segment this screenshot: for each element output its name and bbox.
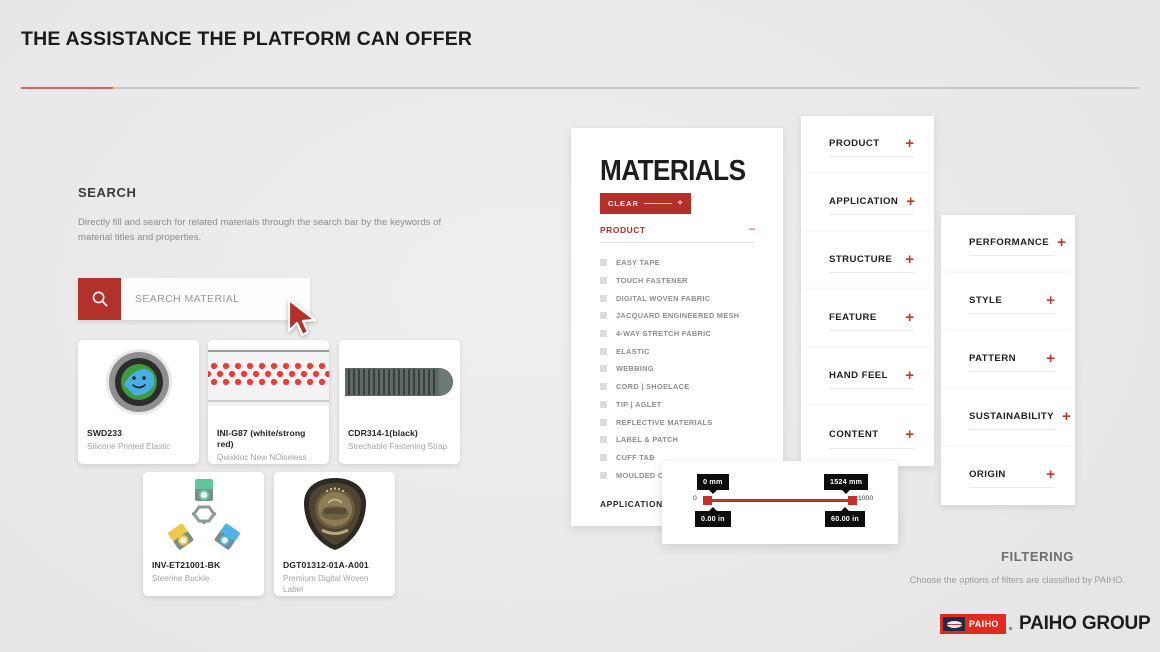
filter-card-label: PATTERN bbox=[969, 353, 1016, 364]
page-title: THE ASSISTANCE THE PLATFORM CAN OFFER bbox=[21, 28, 472, 51]
cursor-arrow-icon bbox=[286, 298, 320, 338]
checkbox-icon[interactable] bbox=[600, 472, 607, 479]
filter-card-origin[interactable]: ORIGIN+ bbox=[941, 447, 1075, 505]
paiho-logo-mark: PAIHO bbox=[940, 614, 1006, 634]
result-card[interactable]: DGT01312-01A-A001 Premium Digital Woven … bbox=[274, 472, 395, 596]
list-item[interactable]: DIGITAL WOVEN FABRIC bbox=[600, 289, 765, 307]
filter-card-label: HAND FEEL bbox=[829, 370, 888, 381]
list-item[interactable]: 4-WAY STRETCH FABRIC bbox=[600, 325, 765, 343]
filter-card-divider bbox=[829, 214, 914, 215]
minus-icon: – bbox=[749, 224, 755, 235]
filter-card-structure[interactable]: STRUCTURE+ bbox=[801, 232, 934, 290]
plus-icon: + bbox=[1046, 467, 1055, 482]
filter-card-product[interactable]: PRODUCT+ bbox=[801, 116, 934, 174]
search-input[interactable]: SEARCH MATERIAL bbox=[121, 278, 310, 320]
filter-card-label: PERFORMANCE bbox=[969, 237, 1049, 248]
list-item[interactable]: JACQUARD ENGINEERED MESH bbox=[600, 307, 765, 325]
filter-card-label: FEATURE bbox=[829, 312, 877, 323]
paiho-logo-wordmark: PAIHO GROUP bbox=[1019, 613, 1151, 635]
search-heading: SEARCH bbox=[78, 185, 137, 200]
list-item-label: REFLECTIVE MATERIALS bbox=[616, 418, 713, 427]
checkbox-icon[interactable] bbox=[600, 419, 607, 426]
filter-card-label: STYLE bbox=[969, 295, 1002, 306]
plus-icon: + bbox=[905, 252, 914, 267]
result-card-code: DGT01312-01A-A001 bbox=[283, 560, 386, 571]
checkbox-icon[interactable] bbox=[600, 436, 607, 443]
filter-card-divider bbox=[829, 156, 914, 157]
checkbox-icon[interactable] bbox=[600, 330, 607, 337]
plus-icon: + bbox=[905, 427, 914, 442]
section-header-application-label: APPLICATION bbox=[600, 499, 663, 509]
list-item-label: LABEL & PATCH bbox=[616, 435, 678, 444]
paiho-logo-mark-text: PAIHO bbox=[969, 619, 999, 629]
filter-card-label: ORIGIN bbox=[969, 469, 1006, 480]
list-item-label: TIP | AGLET bbox=[616, 400, 662, 409]
filter-card-divider bbox=[969, 429, 1055, 430]
slider-scale-min: 0 bbox=[693, 495, 697, 502]
plus-icon: + bbox=[1062, 409, 1071, 424]
filter-card-divider bbox=[829, 388, 914, 389]
range-slider-popup: 0 mm 1524 mm 0 1000 0.00 in 60.00 in bbox=[662, 461, 898, 544]
list-item-label: WEBBING bbox=[616, 364, 654, 373]
list-item-label: CUFF TAB bbox=[616, 453, 655, 462]
list-item[interactable]: WEBBING bbox=[600, 360, 765, 378]
list-item[interactable]: CORD | SHOELACE bbox=[600, 378, 765, 396]
search-input-placeholder: SEARCH MATERIAL bbox=[135, 293, 239, 305]
section-divider bbox=[600, 242, 755, 243]
list-item-label: ELASTIC bbox=[616, 347, 650, 356]
plus-icon: + bbox=[905, 368, 914, 383]
result-card-name: Steerine Buckle bbox=[152, 573, 255, 584]
result-card-code: SWD233 bbox=[87, 428, 190, 439]
range-slider-track[interactable] bbox=[707, 499, 853, 502]
buckle-thumb bbox=[143, 472, 264, 556]
clear-button-label: CLEAR bbox=[608, 199, 639, 208]
checkbox-icon[interactable] bbox=[600, 348, 607, 355]
title-divider bbox=[21, 87, 1139, 89]
hook-tape-thumb bbox=[208, 340, 329, 424]
plus-icon: + bbox=[905, 310, 914, 325]
filter-card-divider bbox=[969, 371, 1055, 372]
list-item-label: EASY TAPE bbox=[616, 258, 660, 267]
slide-canvas: THE ASSISTANCE THE PLATFORM CAN OFFER SE… bbox=[0, 0, 1160, 652]
filter-card-label: STRUCTURE bbox=[829, 254, 892, 265]
filtering-description: Choose the options of filters are classi… bbox=[910, 575, 1125, 585]
filter-card-divider bbox=[829, 272, 914, 273]
filter-card-divider bbox=[829, 330, 914, 331]
clear-button-divider bbox=[644, 203, 672, 204]
checkbox-icon[interactable] bbox=[600, 259, 607, 266]
result-card-name: Quixkloc New NOiseless Hook to Hook Tab bbox=[217, 452, 320, 464]
paiho-oval-icon bbox=[947, 621, 962, 628]
range-slider-handle-max[interactable] bbox=[848, 496, 857, 505]
result-card-code: INI-G87 (white/strong red) bbox=[217, 428, 320, 450]
plus-icon: + bbox=[905, 136, 914, 151]
filter-card-content[interactable]: CONTENT+ bbox=[801, 406, 934, 466]
result-card-name: Silicone Printed Elastic bbox=[87, 441, 190, 452]
result-card[interactable]: SWD233 Silicone Printed Elastic bbox=[78, 340, 199, 464]
list-item[interactable]: TIP | AGLET bbox=[600, 396, 765, 414]
list-item[interactable]: TOUCH FASTENER bbox=[600, 272, 765, 290]
plus-icon: + bbox=[677, 199, 683, 209]
filter-card-feature[interactable]: FEATURE+ bbox=[801, 290, 934, 348]
checkbox-icon[interactable] bbox=[600, 295, 607, 302]
checkbox-icon[interactable] bbox=[600, 365, 607, 372]
result-card-name: Premium Digital Woven Label bbox=[283, 573, 386, 595]
search-bar[interactable]: SEARCH MATERIAL bbox=[78, 278, 310, 320]
search-button[interactable] bbox=[78, 278, 121, 320]
list-item-label: 4-WAY STRETCH FABRIC bbox=[616, 329, 711, 338]
filter-card-divider bbox=[969, 313, 1055, 314]
list-item-label: JACQUARD ENGINEERED MESH bbox=[616, 311, 739, 320]
range-slider-handle-min[interactable] bbox=[703, 496, 712, 505]
checkbox-icon[interactable] bbox=[600, 401, 607, 408]
filter-card-label: CONTENT bbox=[829, 429, 879, 440]
search-icon bbox=[91, 290, 109, 308]
title-divider-accent bbox=[21, 87, 113, 89]
list-item-label: CORD | SHOELACE bbox=[616, 382, 690, 391]
filter-card-divider bbox=[829, 448, 914, 449]
result-card[interactable]: CDR314-1(black) Strechable Fastening Str… bbox=[339, 340, 460, 464]
logo-dot-icon bbox=[1009, 627, 1012, 630]
result-card[interactable]: INI-G87 (white/strong red) Quixkloc New … bbox=[208, 340, 329, 464]
plus-icon: + bbox=[1046, 293, 1055, 308]
result-card-code: INV-ET21001-BK bbox=[152, 560, 255, 571]
slider-min-in-label: 0.00 in bbox=[695, 511, 731, 527]
result-card-code: CDR314-1(black) bbox=[348, 428, 451, 439]
result-card[interactable]: INV-ET21001-BK Steerine Buckle bbox=[143, 472, 264, 596]
slider-min-mm-label: 0 mm bbox=[697, 474, 729, 490]
filter-card-application[interactable]: APPLICATION+ bbox=[801, 174, 934, 232]
plus-icon: + bbox=[906, 194, 915, 209]
list-item-label: DIGITAL WOVEN FABRIC bbox=[616, 294, 710, 303]
list-item-label: TOUCH FASTENER bbox=[616, 276, 688, 285]
filter-card-performance[interactable]: PERFORMANCE+ bbox=[941, 215, 1075, 273]
slider-max-in-label: 60.00 in bbox=[825, 511, 865, 527]
filter-card-divider bbox=[969, 487, 1055, 488]
filter-card-sustainability[interactable]: SUSTAINABILITY+ bbox=[941, 389, 1075, 447]
checkbox-icon[interactable] bbox=[600, 277, 607, 284]
ribbed-strap-thumb bbox=[339, 340, 460, 424]
result-card-name: Strechable Fastening Strap bbox=[348, 441, 451, 452]
section-header-product[interactable]: PRODUCT – bbox=[600, 224, 755, 235]
plus-icon: + bbox=[1046, 351, 1055, 366]
product-option-list: EASY TAPE TOUCH FASTENER DIGITAL WOVEN F… bbox=[600, 254, 765, 484]
woven-patch-thumb bbox=[274, 472, 395, 556]
plus-icon: + bbox=[1057, 235, 1066, 250]
slider-scale-max: 1000 bbox=[858, 495, 873, 502]
list-item[interactable]: REFLECTIVE MATERIALS bbox=[600, 413, 765, 431]
filtering-heading: FILTERING bbox=[1001, 549, 1074, 564]
section-header-product-label: PRODUCT bbox=[600, 225, 646, 235]
clear-filters-button[interactable]: CLEAR + bbox=[600, 193, 691, 214]
search-description: Directly fill and search for related mat… bbox=[78, 216, 458, 246]
filter-card-label: SUSTAINABILITY bbox=[969, 411, 1054, 422]
filter-card-pattern[interactable]: PATTERN+ bbox=[941, 331, 1075, 389]
slider-max-mm-label: 1524 mm bbox=[824, 474, 868, 490]
filter-card-style[interactable]: STYLE+ bbox=[941, 273, 1075, 331]
globe-badge-thumb bbox=[78, 340, 199, 424]
paiho-logo: PAIHO PAIHO GROUP bbox=[940, 613, 1151, 635]
list-item[interactable]: LABEL & PATCH bbox=[600, 431, 765, 449]
filter-card-hand-feel[interactable]: HAND FEEL+ bbox=[801, 348, 934, 406]
checkbox-icon[interactable] bbox=[600, 383, 607, 390]
checkbox-icon[interactable] bbox=[600, 454, 607, 461]
list-item[interactable]: ELASTIC bbox=[600, 342, 765, 360]
list-item[interactable]: EASY TAPE bbox=[600, 254, 765, 272]
paiho-emblem-icon bbox=[943, 617, 965, 631]
filter-card-label: PRODUCT bbox=[829, 138, 880, 149]
filter-card-label: APPLICATION bbox=[829, 196, 898, 207]
checkbox-icon[interactable] bbox=[600, 312, 607, 319]
materials-panel-title: MATERIALS bbox=[600, 155, 745, 188]
filter-card-divider bbox=[969, 255, 1055, 256]
